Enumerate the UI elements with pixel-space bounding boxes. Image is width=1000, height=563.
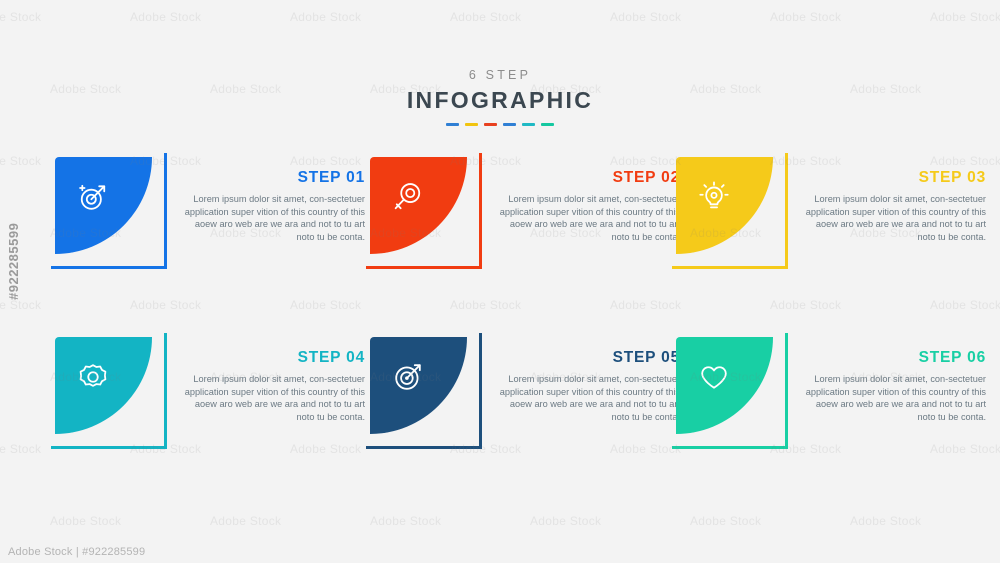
step-card-4[interactable]: STEP 04Lorem ipsum dolor sit amet, con-s… <box>55 337 365 477</box>
step-title-4: STEP 04 <box>183 349 365 367</box>
step-content-2: STEP 02Lorem ipsum dolor sit amet, con-s… <box>498 169 680 243</box>
step-title-2: STEP 02 <box>498 169 680 187</box>
step-frame-horizontal-1 <box>51 266 167 269</box>
step-frame-horizontal-5 <box>366 446 482 449</box>
target-arrow-icon <box>75 179 111 215</box>
watermark-side-id: #922285599 <box>6 223 21 300</box>
step-frame-vertical-4 <box>164 333 167 449</box>
step-description-5: Lorem ipsum dolor sit amet, con-sectetue… <box>498 373 680 423</box>
step-shape-6 <box>676 337 788 449</box>
step-content-5: STEP 05Lorem ipsum dolor sit amet, con-s… <box>498 349 680 423</box>
step-title-5: STEP 05 <box>498 349 680 367</box>
step-card-3[interactable]: STEP 03Lorem ipsum dolor sit amet, con-s… <box>676 157 986 297</box>
step-title-1: STEP 01 <box>183 169 365 187</box>
step-frame-vertical-1 <box>164 153 167 269</box>
step-description-3: Lorem ipsum dolor sit amet, con-sectetue… <box>804 193 986 243</box>
step-card-5[interactable]: STEP 05Lorem ipsum dolor sit amet, con-s… <box>370 337 680 477</box>
step-frame-vertical-2 <box>479 153 482 269</box>
step-frame-horizontal-2 <box>366 266 482 269</box>
step-card-6[interactable]: STEP 06Lorem ipsum dolor sit amet, con-s… <box>676 337 986 477</box>
step-shape-1 <box>55 157 167 269</box>
step-shape-4 <box>55 337 167 449</box>
step-card-1[interactable]: STEP 01Lorem ipsum dolor sit amet, con-s… <box>55 157 365 297</box>
gear-icon <box>75 359 111 395</box>
magnifier-icon <box>390 179 426 215</box>
step-frame-horizontal-3 <box>672 266 788 269</box>
step-shape-2 <box>370 157 482 269</box>
watermark-bottom-credit: Adobe Stock | #922285599 <box>8 546 145 558</box>
step-content-6: STEP 06Lorem ipsum dolor sit amet, con-s… <box>804 349 986 423</box>
step-frame-vertical-5 <box>479 333 482 449</box>
step-title-6: STEP 06 <box>804 349 986 367</box>
step-shape-5 <box>370 337 482 449</box>
step-shape-3 <box>676 157 788 269</box>
lightbulb-icon <box>696 179 732 215</box>
step-card-2[interactable]: STEP 02Lorem ipsum dolor sit amet, con-s… <box>370 157 680 297</box>
steps-grid: STEP 01Lorem ipsum dolor sit amet, con-s… <box>0 0 1000 563</box>
step-description-2: Lorem ipsum dolor sit amet, con-sectetue… <box>498 193 680 243</box>
step-description-1: Lorem ipsum dolor sit amet, con-sectetue… <box>183 193 365 243</box>
step-content-4: STEP 04Lorem ipsum dolor sit amet, con-s… <box>183 349 365 423</box>
target-dart-icon <box>390 359 426 395</box>
step-frame-vertical-6 <box>785 333 788 449</box>
step-content-1: STEP 01Lorem ipsum dolor sit amet, con-s… <box>183 169 365 243</box>
step-title-3: STEP 03 <box>804 169 986 187</box>
step-content-3: STEP 03Lorem ipsum dolor sit amet, con-s… <box>804 169 986 243</box>
infographic-canvas: 6 STEP INFOGRAPHIC STEP 01Lorem ipsum do… <box>0 0 1000 563</box>
step-frame-horizontal-4 <box>51 446 167 449</box>
step-frame-horizontal-6 <box>672 446 788 449</box>
step-description-6: Lorem ipsum dolor sit amet, con-sectetue… <box>804 373 986 423</box>
step-description-4: Lorem ipsum dolor sit amet, con-sectetue… <box>183 373 365 423</box>
step-frame-vertical-3 <box>785 153 788 269</box>
heart-icon <box>696 359 732 395</box>
